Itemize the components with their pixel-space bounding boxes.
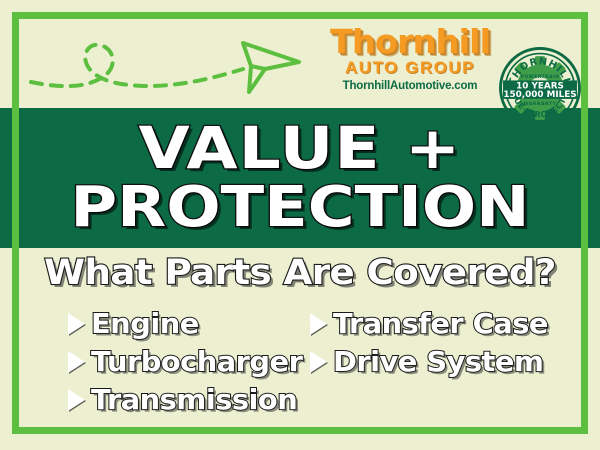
thornhill-logo: Thornhill AUTO GROUP ThornhillAutomotive… xyxy=(326,24,494,112)
dashed-loop-path-with-arrow-icon xyxy=(25,19,315,109)
triangle-bullet-icon xyxy=(68,313,85,335)
list-item: Transfer Case xyxy=(310,305,558,343)
logo-website-url: ThornhillAutomotive.com xyxy=(326,78,494,94)
list-item: Turbocharger xyxy=(68,343,290,381)
logo-wordmark: Thornhill xyxy=(324,24,495,60)
triangle-bullet-icon xyxy=(68,351,85,373)
covered-parts-right-column: Transfer Case Drive System xyxy=(290,305,558,381)
flight-path-decoration xyxy=(25,19,315,109)
covered-parts-left-column: Engine Turbocharger Transmission xyxy=(22,305,290,419)
list-item: Engine xyxy=(68,305,290,343)
covered-parts-list: Engine Turbocharger Transmission Transfe… xyxy=(22,305,578,420)
badge-miles-text: 150,000 MILES xyxy=(503,90,576,100)
headline: VALUE + PROTECTION xyxy=(0,112,600,244)
list-item-label: Transfer Case xyxy=(333,308,548,340)
list-item: Transmission xyxy=(68,381,290,419)
list-item-label: Engine xyxy=(91,308,199,340)
list-item-label: Transmission xyxy=(91,384,297,416)
headline-line-2: PROTECTION xyxy=(0,178,600,238)
triangle-bullet-icon xyxy=(310,351,327,373)
header-zone: Thornhill AUTO GROUP ThornhillAutomotive… xyxy=(19,19,581,109)
list-item-label: Turbocharger xyxy=(91,346,302,378)
triangle-bullet-icon xyxy=(68,389,85,411)
question-heading: What Parts Are Covered? xyxy=(0,253,600,293)
headline-line-1: VALUE + xyxy=(0,118,600,178)
list-item-label: Drive System xyxy=(333,346,543,378)
advertisement-banner: Thornhill AUTO GROUP ThornhillAutomotive… xyxy=(0,0,600,450)
list-item: Drive System xyxy=(310,343,558,381)
triangle-bullet-icon xyxy=(310,313,327,335)
badge-powertrain-text: POWERTRAIN xyxy=(521,74,560,80)
badge-warranty-text: WARRANTY xyxy=(524,101,557,107)
